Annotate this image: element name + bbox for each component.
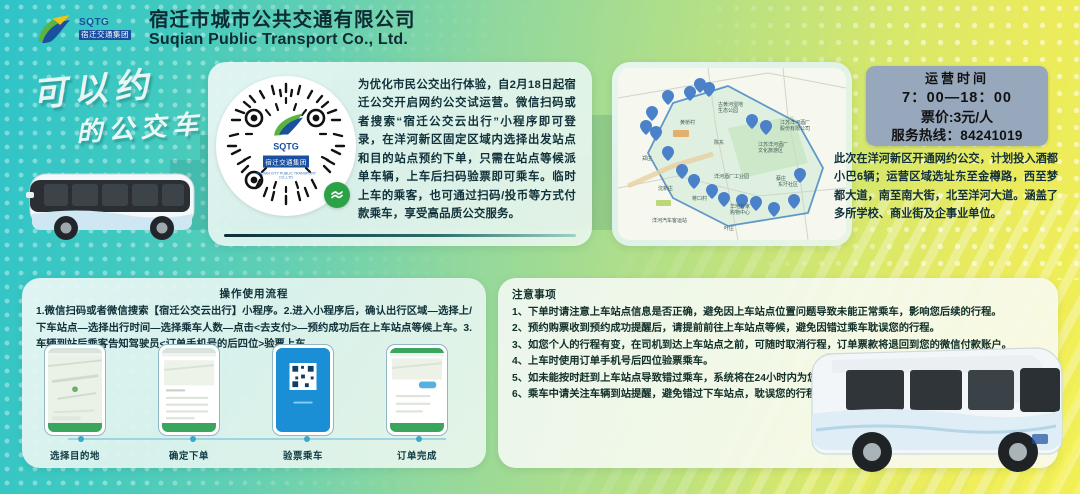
page-header: SQTG 宿迁交通集团 宿迁市城市公共交通有限公司 Suqian Public … [0, 0, 1080, 58]
svg-text:购物中心: 购物中心 [730, 209, 750, 216]
qr-center-logo: SQTG 宿迁交通集团 SUQIAN CITY PUBLIC TRANSPORT… [255, 112, 317, 181]
qr-logo-en: SUQIAN CITY PUBLIC TRANSPORT CO.,LTD [255, 172, 317, 181]
phone-step-1 [44, 344, 106, 436]
svg-text:股份有限公司: 股份有限公司 [780, 125, 810, 132]
svg-text:蒋口村: 蒋口村 [692, 195, 707, 202]
step-caption-3: 验票乘车 [256, 448, 350, 462]
svg-text:江苏洋河酒厂: 江苏洋河酒厂 [758, 141, 788, 148]
step-caption-2: 确定下单 [142, 448, 236, 462]
usage-flow-card: 操作使用流程 1.微信扫码或者微信搜索【宿迁公交云出行】小程序。2.进入小程序后… [22, 278, 486, 468]
logo-cn: 宿迁交通集团 [79, 30, 131, 41]
qr-logo-abbr: SQTG [255, 143, 317, 152]
logo-abbr: SQTG [79, 18, 131, 28]
svg-text:生态公园: 生态公园 [718, 107, 738, 114]
info-paragraph: 为优化市民公交出行体验，自2月18日起宿迁公交开启网约公交试运营。微信扫码或者搜… [356, 72, 580, 224]
logo-wordmark: SQTG 宿迁交通集团 [79, 18, 131, 41]
poster-canvas: SQTG 宿迁交通集团 宿迁市城市公共交通有限公司 Suqian Public … [0, 0, 1080, 494]
step-timeline [68, 438, 446, 440]
svg-text:华地万家: 华地万家 [730, 203, 750, 210]
svg-text:黄桥村: 黄桥村 [680, 119, 695, 126]
notice-title: 注意事项 [512, 287, 1044, 302]
svg-text:文化旅游区: 文化旅游区 [758, 147, 783, 154]
svg-text:洋河酒厂工业园: 洋河酒厂工业园 [714, 173, 749, 180]
hours-fare: 票价:3元/人 [866, 108, 1048, 126]
svg-text:叶庄: 叶庄 [724, 225, 734, 232]
svg-text:郑庄: 郑庄 [642, 155, 652, 162]
minibus-illustration [22, 158, 202, 250]
info-card: SQTG 宿迁交通集团 SUQIAN CITY PUBLIC TRANSPORT… [208, 62, 592, 246]
qr-code[interactable]: SQTG 宿迁交通集团 SUQIAN CITY PUBLIC TRANSPORT… [216, 76, 356, 216]
service-hotline: 服务热线：84241019 [866, 127, 1048, 145]
phone-step-2 [158, 344, 220, 436]
wechat-miniprogram-icon [324, 182, 350, 208]
headline-line-2: 的公交车 [75, 104, 205, 150]
hours-title: 运营时间 [866, 70, 1048, 89]
sqtg-logo-icon [30, 12, 74, 46]
timeline-dot [416, 436, 422, 442]
svg-text:陈东: 陈东 [714, 139, 724, 146]
timeline-dot [78, 436, 84, 442]
hours-time: 7：00—18：00 [866, 89, 1048, 109]
svg-text:蔡庄: 蔡庄 [776, 175, 786, 182]
operating-hours-box: 运营时间 7：00—18：00 票价:3元/人 服务热线：84241019 [866, 66, 1048, 146]
phone-step-4 [386, 344, 448, 436]
company-name-cn: 宿迁市城市公共交通有限公司 [149, 10, 416, 31]
phone-step-3 [272, 344, 334, 436]
qr-logo-cn: 宿迁交通集团 [263, 156, 308, 168]
card-divider-rule [224, 234, 576, 237]
company-name-en: Suqian Public Transport Co., Ltd. [149, 31, 416, 48]
sqtg-logo-icon-small [257, 112, 315, 138]
headline-calligraphy: 可以约 的公交车 [28, 58, 218, 150]
company-name: 宿迁市城市公共交通有限公司 Suqian Public Transport Co… [149, 10, 416, 48]
svg-text:洋河汽车客运站: 洋河汽车客运站 [652, 217, 687, 224]
phone-steps: 选择目的地 确定下单 验票乘车 订单完成 [22, 350, 486, 462]
step-caption-4: 订单完成 [370, 448, 464, 462]
city-bus-photo [786, 318, 1080, 488]
svg-text:古黄河湿地: 古黄河湿地 [718, 101, 743, 108]
timeline-dot [304, 436, 310, 442]
service-area-map: 黄桥村 陈东 郑庄 沈新庄 蒋口村 东圩社区 蔡庄 洋河酒厂工业园 江苏洋河酒厂… [618, 68, 846, 240]
company-logo: SQTG 宿迁交通集团 [30, 12, 131, 46]
step-caption-1: 选择目的地 [28, 448, 122, 462]
timeline-dot [190, 436, 196, 442]
service-area-note: 此次在洋河新区开通网约公交，计划投入酒都小巴6辆；运营区域选址东至金樽路，西至梦… [834, 150, 1058, 224]
svg-text:东圩社区: 东圩社区 [778, 181, 798, 188]
flow-title: 操作使用流程 [36, 286, 472, 301]
svg-text:江苏洋河酒厂: 江苏洋河酒厂 [780, 119, 810, 126]
service-area-map-card[interactable]: 黄桥村 陈东 郑庄 沈新庄 蒋口村 东圩社区 蔡庄 洋河酒厂工业园 江苏洋河酒厂… [612, 62, 852, 246]
svg-text:沈新庄: 沈新庄 [658, 185, 673, 192]
